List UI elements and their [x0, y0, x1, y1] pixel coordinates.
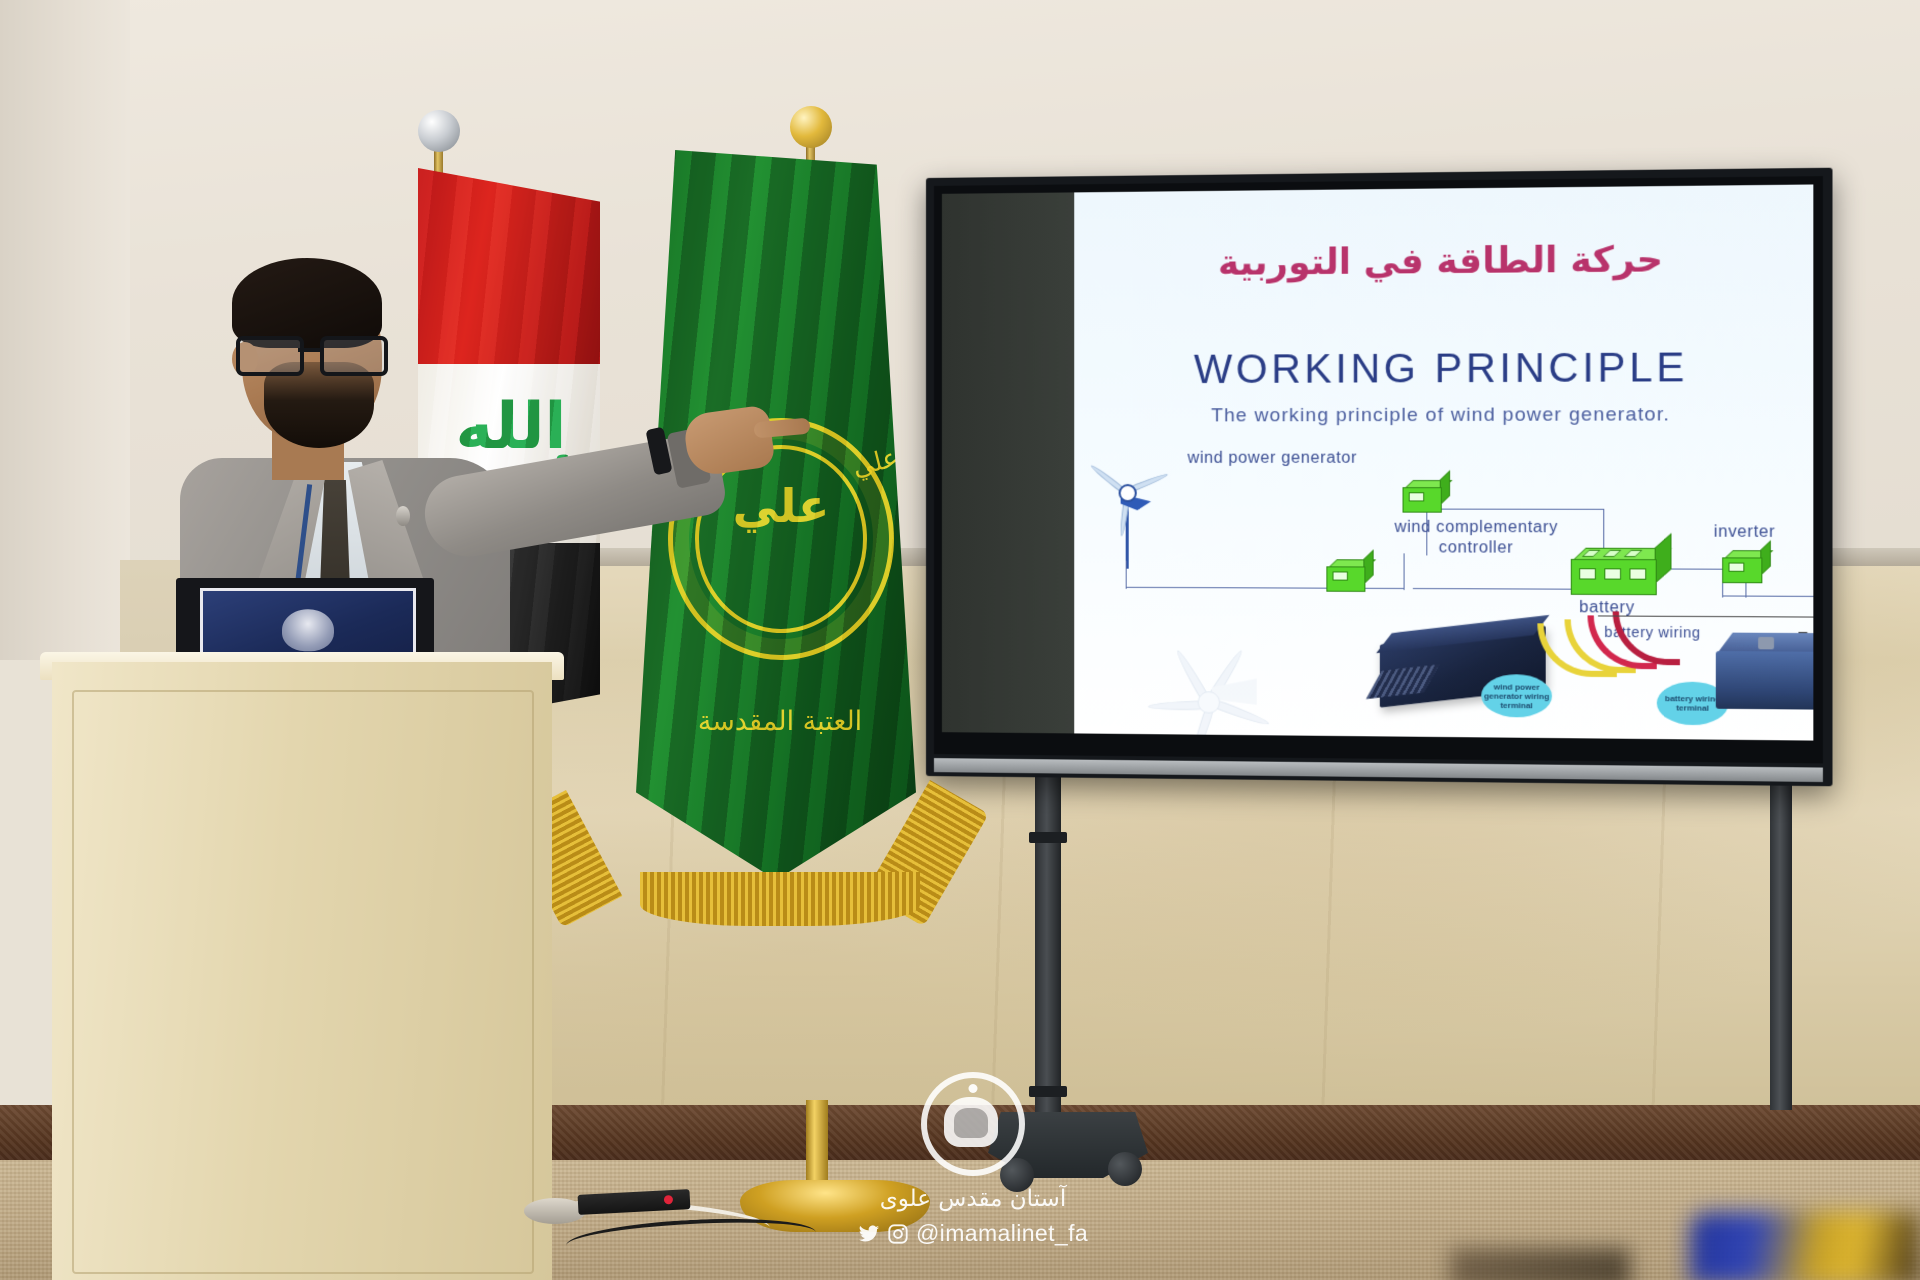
terminal-callout-generator: wind power generator wiring terminal — [1481, 674, 1552, 718]
watermark-persian-text: آستان مقدس علوی — [858, 1186, 1088, 1212]
turbine-photo — [1111, 643, 1315, 740]
watermark-dome-icon — [969, 1084, 978, 1093]
wire-to-junction — [1404, 553, 1405, 590]
battery-unit-photo — [1716, 633, 1814, 711]
green-flag-bottom-script: العتبة المقدسة — [680, 706, 880, 737]
wire-top-across — [1426, 509, 1603, 510]
watermark: آستان مقدس علوی @imamalinet_fa — [858, 1072, 1088, 1272]
tv-stand-clamp-upper — [1029, 832, 1067, 843]
podium-monitor-emblem — [282, 609, 334, 651]
green-box-inverter — [1722, 550, 1769, 581]
speaker-hand — [682, 404, 776, 477]
watermark-handle-text: @imamalinet_fa — [916, 1220, 1088, 1247]
wire-controller-battery — [1413, 588, 1571, 590]
tv-stand-column-right — [1770, 770, 1792, 1110]
tv-letterbox-left — [942, 192, 1074, 733]
green-box-junction — [1403, 480, 1448, 511]
speaker-glasses — [236, 336, 386, 370]
label-wind-power-generator: wind power generator — [1187, 450, 1357, 468]
label-inverter: inverter — [1714, 523, 1776, 542]
tv-stand-wheel-right — [1108, 1152, 1142, 1186]
green-flag-finial — [790, 106, 832, 148]
wiring-photo-illustration: wind power generator wiring terminal bat… — [1074, 615, 1813, 741]
watermark-handle-row: @imamalinet_fa — [858, 1220, 1088, 1247]
iraq-flag-finial — [418, 110, 460, 152]
green-flag-fringe-bottom — [640, 872, 920, 926]
tv-panel: حركة الطاقة في التوربية WORKING PRINCIPL… — [934, 176, 1823, 763]
foreground-blur-object — [1690, 1212, 1920, 1280]
speaker-lapel-pin — [396, 506, 410, 526]
power-adapter — [524, 1198, 586, 1224]
wall-corner — [0, 0, 130, 660]
instagram-icon — [887, 1223, 909, 1245]
speaker-hair — [232, 258, 382, 348]
twitter-icon — [858, 1223, 880, 1245]
watermark-seal-icon — [921, 1072, 1025, 1176]
slide-canvas: حركة الطاقة في التوربية WORKING PRINCIPL… — [1074, 184, 1813, 740]
presentation-screen[interactable]: حركة الطاقة في التوربية WORKING PRINCIPL… — [926, 178, 1806, 776]
podium-front-panel — [72, 690, 534, 1274]
label-minus: – — [1798, 623, 1808, 641]
slide-heading: WORKING PRINCIPLE — [1074, 345, 1813, 394]
wire-battery-inverter — [1667, 569, 1722, 570]
power-strip-led — [664, 1195, 673, 1204]
tv-bezel: حركة الطاقة في التوربية WORKING PRINCIPL… — [926, 168, 1833, 787]
label-wind-complementary: wind complementary — [1347, 519, 1606, 538]
wind-turbine-icon — [1084, 448, 1171, 569]
label-controller: controller — [1347, 539, 1606, 558]
slide-arabic-title: حركة الطاقة في التوربية — [1074, 238, 1813, 285]
foreground-blur-secondary — [1450, 1248, 1630, 1280]
photo-scene: حركة الطاقة في التوربية WORKING PRINCIPL… — [0, 0, 1920, 1280]
green-box-controller — [1326, 559, 1371, 590]
slide-subheading: The working principle of wind power gene… — [1074, 404, 1813, 428]
wire-gen-down — [1126, 561, 1127, 589]
wire-inverter-user — [1722, 595, 1813, 597]
